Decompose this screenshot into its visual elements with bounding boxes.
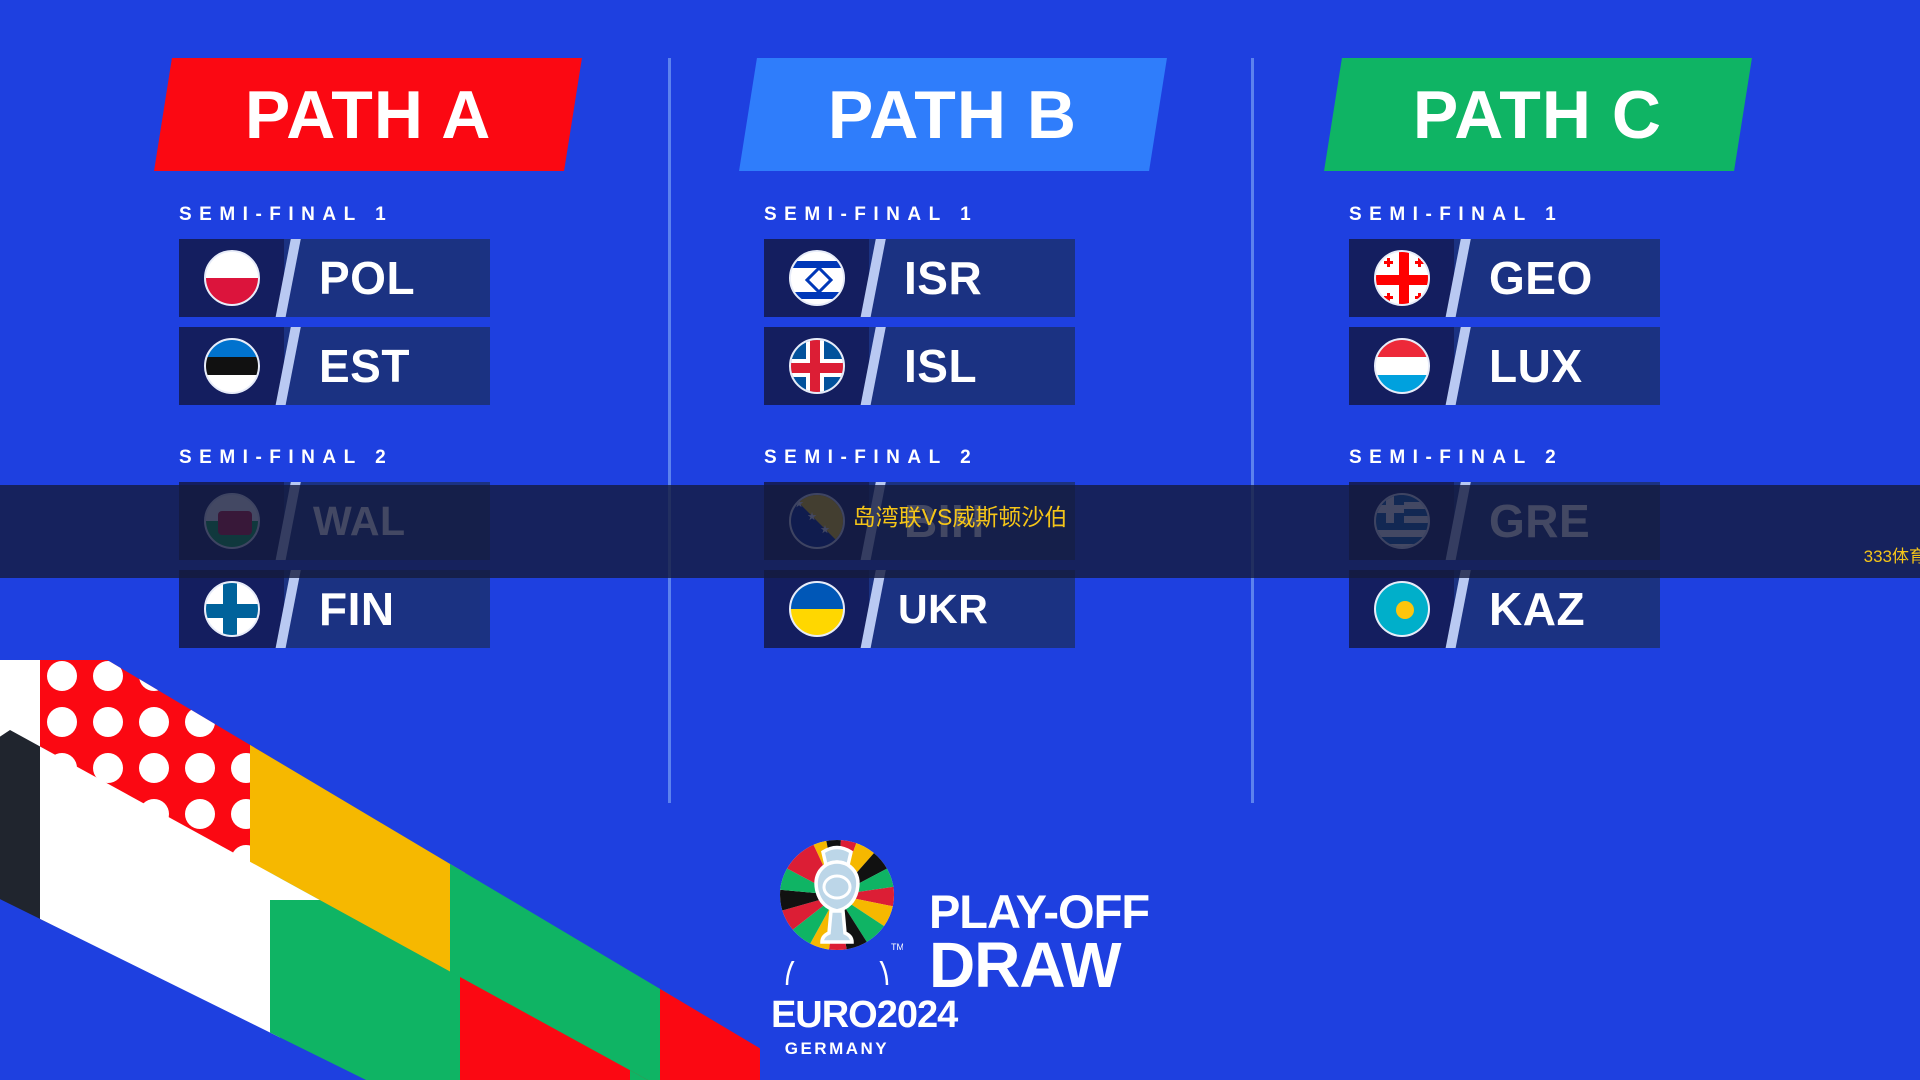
path-banner-label-c: PATH C <box>1413 81 1662 149</box>
flag-pane <box>1349 570 1454 648</box>
flag-pane <box>764 570 869 648</box>
site-watermark: 333体育 <box>1864 542 1920 567</box>
israel-flag <box>789 250 845 306</box>
semifinal-label-c1: SEMI-FINAL 1 <box>1349 204 1795 226</box>
team-code: FIN <box>297 570 395 648</box>
svg-text:TM: TM <box>891 942 903 952</box>
iceland-flag <box>789 338 845 394</box>
path-banner-c: PATH C <box>1324 58 1752 171</box>
flag-pane <box>179 327 284 405</box>
overlay-caption-text: 岛湾联VS威斯顿沙伯 <box>0 498 1920 532</box>
footer-branding: TM UEFA EURO2024 GERMANY PLAY-OFF DRAW <box>0 820 1920 1080</box>
match-row[interactable]: KAZ <box>1349 570 1660 648</box>
match-row[interactable]: ISL <box>764 327 1075 405</box>
semifinal-label-a1: SEMI-FINAL 1 <box>179 204 625 226</box>
flag-pane <box>179 239 284 317</box>
semifinal-label-b2: SEMI-FINAL 2 <box>764 447 1210 469</box>
georgia-flag <box>1374 250 1430 306</box>
match-row[interactable]: UKR <box>764 570 1075 648</box>
euro-2024-logo: TM UEFA EURO2024 GERMANY <box>771 838 903 1059</box>
playoff-paths-container: PATH A SEMI-FINAL 1 POL EST <box>0 0 1920 820</box>
team-code: UKR <box>882 570 988 648</box>
flag-pane <box>764 239 869 317</box>
semifinal-label-c2: SEMI-FINAL 2 <box>1349 447 1795 469</box>
germany-text: GERMANY <box>771 1039 903 1059</box>
euro-logo-wordmark: UEFA EURO2024 GERMANY <box>771 961 903 1059</box>
match-row[interactable]: LUX <box>1349 327 1660 405</box>
ukraine-flag <box>789 581 845 637</box>
match-row[interactable]: EST <box>179 327 490 405</box>
flag-pane <box>1349 327 1454 405</box>
semifinal-label-b1: SEMI-FINAL 1 <box>764 204 1210 226</box>
team-code: POL <box>297 239 415 317</box>
path-banner-label-b: PATH B <box>828 81 1077 149</box>
kazakhstan-flag <box>1374 581 1430 637</box>
team-code: ISR <box>882 239 982 317</box>
playoff-draw-title: PLAY-OFF DRAW <box>929 838 1149 995</box>
path-banner-a: PATH A <box>154 58 582 171</box>
team-code: LUX <box>1467 327 1583 405</box>
match-row[interactable]: GEO <box>1349 239 1660 317</box>
flag-pane <box>1349 239 1454 317</box>
semifinal-label-a2: SEMI-FINAL 2 <box>179 447 625 469</box>
path-banner-b: PATH B <box>739 58 1167 171</box>
team-code: GEO <box>1467 239 1593 317</box>
team-code: EST <box>297 327 410 405</box>
luxembourg-flag <box>1374 338 1430 394</box>
uefa-arc-text: UEFA <box>771 961 903 987</box>
match-row[interactable]: ISR <box>764 239 1075 317</box>
flag-pane <box>764 327 869 405</box>
playoff-title-line1: PLAY-OFF <box>929 890 1149 935</box>
team-code: ISL <box>882 327 977 405</box>
euro-2024-text: EURO2024 <box>771 996 903 1034</box>
flag-pane <box>179 570 284 648</box>
playoff-title-line2: DRAW <box>929 935 1149 996</box>
euro-trophy-icon: TM <box>771 838 903 956</box>
path-banner-label-a: PATH A <box>245 81 492 149</box>
match-row[interactable]: FIN <box>179 570 490 648</box>
finland-flag <box>204 581 260 637</box>
team-code: KAZ <box>1467 570 1585 648</box>
estonia-flag <box>204 338 260 394</box>
match-row[interactable]: POL <box>179 239 490 317</box>
poland-flag <box>204 250 260 306</box>
